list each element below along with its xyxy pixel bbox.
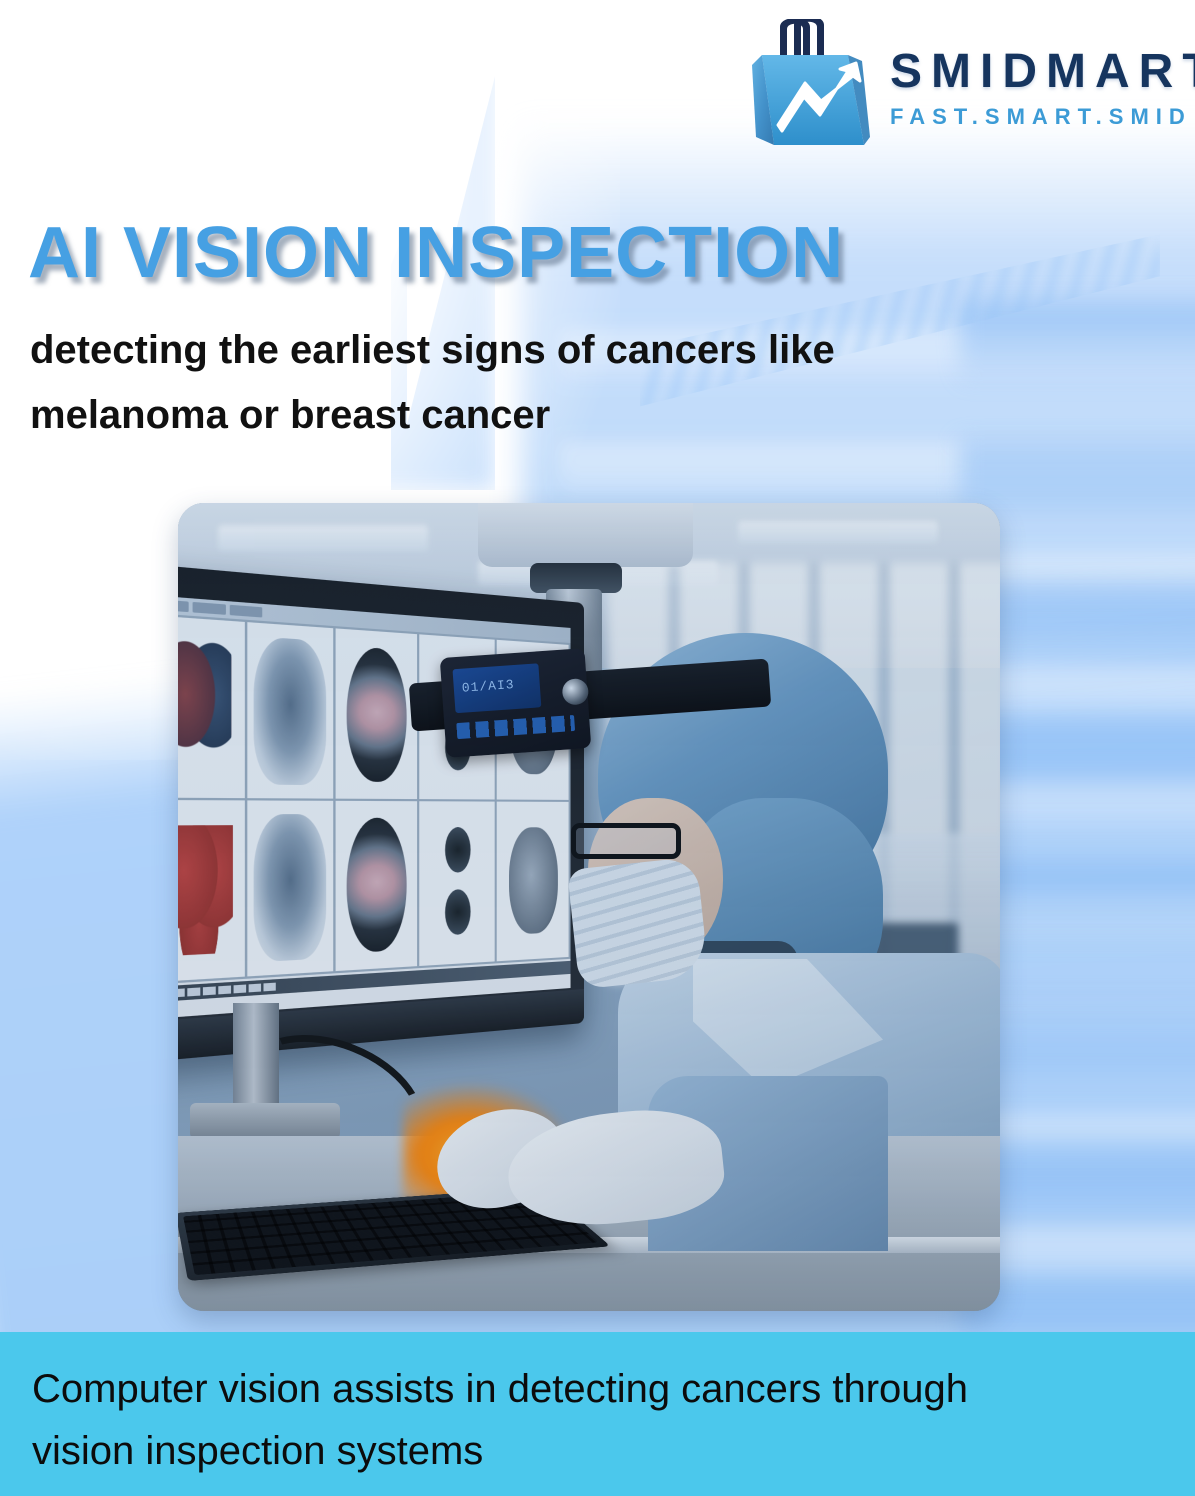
brand-logo[interactable]: SMIDMART FAST.SMART.SMID (752, 14, 1195, 164)
hero-photo-scene: 01/AI3 (178, 503, 1000, 1311)
hero-photo: 01/AI3 (178, 503, 1000, 1311)
subtitle-line-2: melanoma or breast cancer (30, 383, 1165, 448)
shopping-bag-growth-arrow-icon (752, 19, 880, 159)
poster-canvas: SMIDMART FAST.SMART.SMID AI VISION INSPE… (0, 0, 1195, 1496)
photo-color-grade (178, 503, 1000, 1311)
logo-wordmark: SMIDMART FAST.SMART.SMID (890, 48, 1195, 130)
caption-line-2: vision inspection systems (32, 1420, 1167, 1482)
logo-name: SMIDMART (890, 48, 1195, 96)
page-title: AI VISION INSPECTION (28, 212, 958, 294)
subtitle-line-1: detecting the earliest signs of cancers … (30, 318, 1165, 383)
subtitle: detecting the earliest signs of cancers … (30, 318, 1165, 448)
caption-text: Computer vision assists in detecting can… (32, 1358, 1167, 1482)
caption-bar: Computer vision assists in detecting can… (0, 1332, 1195, 1496)
logo-tagline: FAST.SMART.SMID (890, 104, 1195, 130)
caption-line-1: Computer vision assists in detecting can… (32, 1358, 1167, 1420)
